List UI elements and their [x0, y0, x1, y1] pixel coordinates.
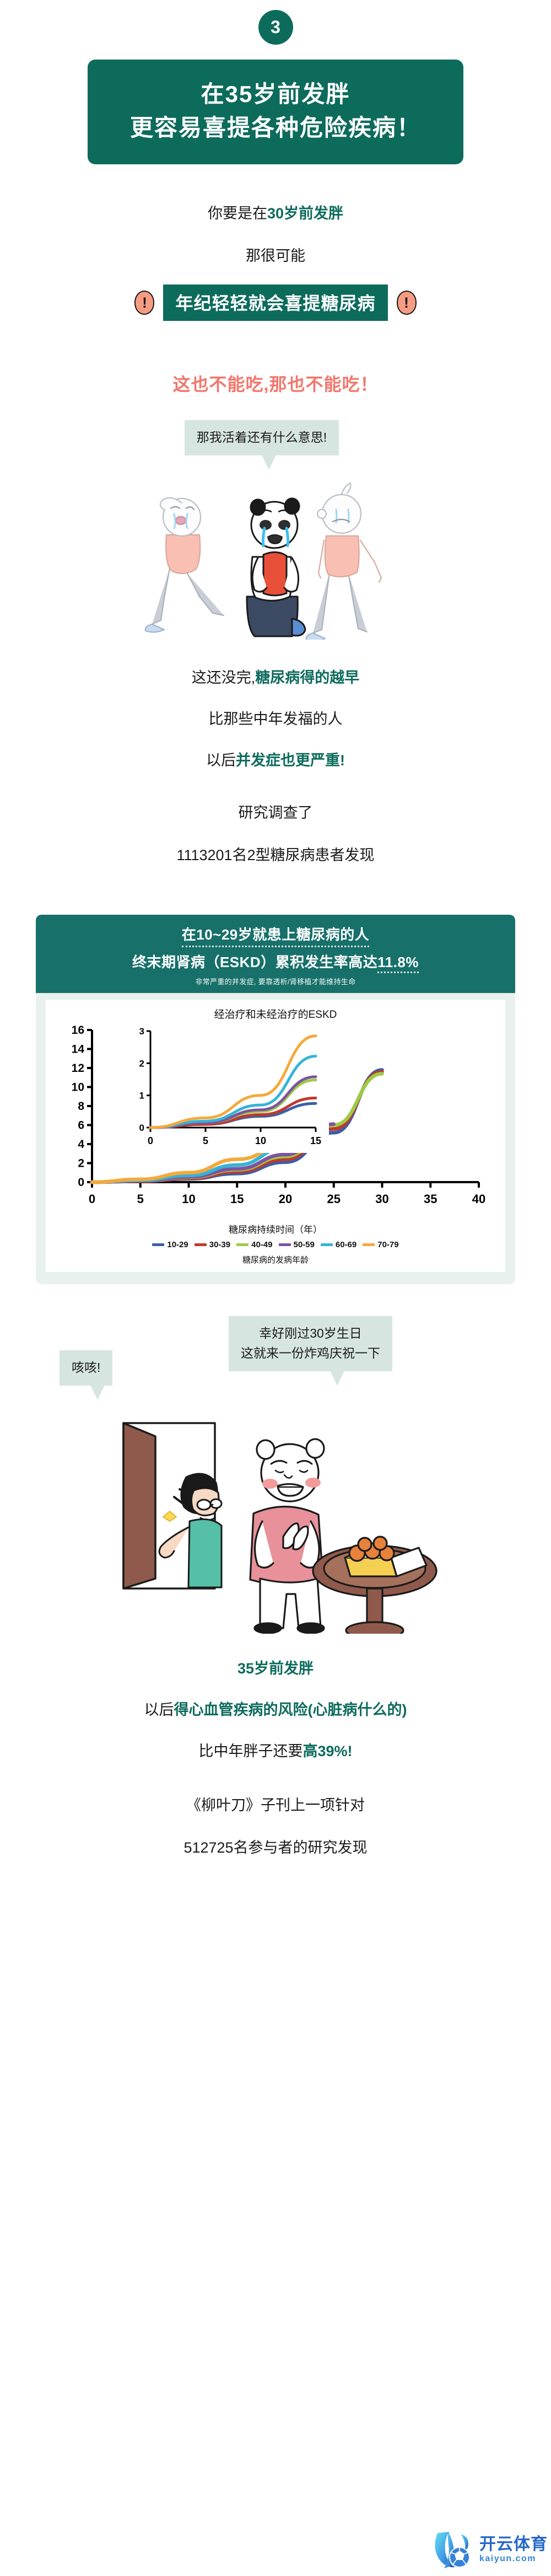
speech-bubble-1-tail: [262, 455, 276, 470]
svg-text:1: 1: [139, 1091, 144, 1101]
svg-text:8: 8: [78, 1100, 84, 1113]
chart-legend-item-10-29: 10-29: [152, 1240, 188, 1249]
door-scene-illustration: [0, 1413, 551, 1634]
chart-legend-item-40-49: 40-49: [236, 1240, 272, 1249]
chart-head-line-2-number: 11.8%: [377, 954, 419, 973]
legend-swatch-icon: [321, 1243, 333, 1246]
headline-container: 在35岁前发胖 更容易喜提各种危险疾病！: [0, 60, 551, 164]
middle-line-3: 以后并发症也更严重!: [0, 751, 551, 770]
chart-head-line-2: 终末期肾病（ESKD）累积发生率高达11.8%: [42, 951, 509, 972]
chart-legend-item-30-39: 30-39: [195, 1240, 230, 1249]
figure-man-panda: [250, 1439, 324, 1633]
svg-text:15: 15: [230, 1192, 244, 1206]
speech-bubble-3-text: 咳咳!: [72, 1360, 100, 1375]
chart-plot-area: 经治疗和未经治疗的ESKD 02468101214160510152025303…: [46, 1000, 505, 1238]
kaiyun-logo-icon: [430, 2527, 475, 2572]
svg-text:4: 4: [78, 1138, 84, 1151]
legend-label: 40-49: [251, 1240, 272, 1249]
chart-legend-item-70-79: 70-79: [363, 1240, 398, 1249]
conclusion-line-4: 《柳叶刀》子刊上一项针对: [0, 1796, 551, 1815]
chart-card-header: 在10~29岁就患上糖尿病的人 终末期肾病（ESKD）累积发生率高达11.8% …: [36, 915, 515, 993]
middle-line-5: 1113201名2型糖尿病患者发现: [0, 846, 551, 865]
intro-line-2: 那很可能: [0, 246, 551, 266]
chart-x-axis-label: 糖尿病持续时间（年）: [49, 1222, 502, 1236]
conclusion-line-5: 512725名参与者的研究发现: [0, 1838, 551, 1858]
crying-people-illustration: [0, 474, 551, 640]
svg-text:20: 20: [279, 1192, 292, 1206]
chart-title: 经治疗和未经治疗的ESKD: [49, 1006, 502, 1021]
intro-line-1-accent: 30岁前发胖: [267, 205, 343, 222]
conclusion-line-2-plain: 以后: [144, 1702, 174, 1718]
step-number-badge: 3: [258, 10, 293, 45]
legend-label: 60-69: [336, 1240, 356, 1249]
legend-label: 30-39: [209, 1240, 230, 1249]
speech-bubble-2: 幸好刚过30岁生日 这就来一份炸鸡庆祝一下: [229, 1316, 392, 1371]
svg-text:2: 2: [78, 1157, 84, 1170]
chart-legend-item-60-69: 60-69: [321, 1240, 356, 1249]
svg-text:10: 10: [255, 1135, 266, 1146]
chart-inset: 0123051015: [125, 1024, 329, 1153]
bubble-1-container: 那我活着还有什么意思!: [0, 420, 551, 455]
conclusion-line-3-plain: 比中年胖子还要: [198, 1743, 302, 1759]
warning-banner-row: ! 年纪轻轻就会喜提糖尿病 !: [0, 285, 551, 321]
legend-swatch-icon: [195, 1243, 207, 1246]
figure-right: [306, 483, 381, 640]
svg-text:10: 10: [72, 1081, 84, 1094]
svg-text:16: 16: [72, 1024, 84, 1037]
conclusion-line-1: 35岁前发胖: [0, 1659, 551, 1678]
middle-line-3-accent: 并发症也更严重!: [236, 752, 345, 769]
chart-legend-row: 10-2930-3940-4950-5960-6970-79: [49, 1240, 502, 1249]
legend-label: 70-79: [377, 1240, 398, 1249]
speech-bubble-2-line-2: 这就来一份炸鸡庆祝一下: [241, 1344, 380, 1364]
speech-bubble-3: 咳咳!: [60, 1350, 112, 1386]
conclusion-line-2: 以后得心血管疾病的风险(心脏病什么的): [0, 1700, 551, 1720]
svg-text:10: 10: [182, 1192, 195, 1206]
crying-people-illustration-container: [0, 474, 551, 640]
headline-line-1: 在35岁前发胖: [201, 78, 350, 111]
svg-text:3: 3: [139, 1026, 144, 1037]
chart-legend-item-50-59: 50-59: [279, 1240, 315, 1249]
speech-bubble-2-tail: [330, 1371, 344, 1386]
svg-text:6: 6: [78, 1119, 84, 1132]
step-badge-container: 3: [0, 0, 551, 45]
chart-head-line-2-pre: 终末期肾病（ESKD）累积发生率高达: [132, 954, 377, 970]
middle-line-2: 比那些中年发福的人: [0, 710, 551, 729]
svg-text:0: 0: [78, 1176, 84, 1189]
intro-line-1-plain: 你要是在: [208, 205, 267, 222]
bubbles-row-container: 幸好刚过30岁生日 这就来一份炸鸡庆祝一下 咳咳!: [0, 1316, 551, 1399]
chart-card-container: 在10~29岁就患上糖尿病的人 终末期肾病（ESKD）累积发生率高达11.8% …: [0, 915, 551, 1284]
svg-text:12: 12: [72, 1062, 84, 1075]
middle-line-1-accent: 糖尿病得的越早: [255, 669, 359, 686]
speech-bubble-1-text: 那我活着还有什么意思!: [197, 430, 327, 444]
conclusion-line-2-accent: 得心血管疾病的风险(心脏病什么的): [174, 1702, 407, 1718]
watermark-en-text: kaiyun.com: [479, 2554, 548, 2563]
conclusion-line-3-accent: 高39%!: [302, 1743, 352, 1759]
middle-line-1-plain: 这还没完,: [192, 669, 256, 686]
svg-text:35: 35: [424, 1192, 437, 1206]
legend-label: 10-29: [167, 1240, 188, 1249]
middle-line-3-plain: 以后: [206, 752, 236, 769]
legend-swatch-icon: [279, 1243, 291, 1246]
chart-svg: 024681012141605101520253035400123051015: [58, 1022, 493, 1221]
table-with-food: [313, 1537, 436, 1634]
svg-text:40: 40: [472, 1192, 485, 1206]
watermark-cn-text: 开云体育: [479, 2536, 548, 2553]
chart-card: 在10~29岁就患上糖尿病的人 终末期肾病（ESKD）累积发生率高达11.8% …: [36, 915, 515, 1284]
svg-text:15: 15: [310, 1135, 321, 1146]
chart-head-line-1: 在10~29岁就患上糖尿病的人: [182, 924, 370, 947]
svg-text:5: 5: [137, 1192, 144, 1206]
conclusion-line-3: 比中年胖子还要高39%!: [0, 1742, 551, 1761]
exclamation-left-icon: !: [134, 291, 154, 315]
speech-bubble-1: 那我活着还有什么意思!: [185, 420, 339, 455]
svg-text:0: 0: [139, 1123, 144, 1133]
svg-text:0: 0: [148, 1135, 153, 1146]
chart-legend-box: 10-2930-3940-4950-5960-6970-79 糖尿病的发病年龄: [46, 1238, 505, 1272]
headline-line-2: 更容易喜提各种危险疾病！: [130, 111, 421, 145]
svg-text:30: 30: [375, 1192, 388, 1206]
watermark: 开云体育 kaiyun.com: [430, 2527, 548, 2572]
warning-banner-text: 年纪轻轻就会喜提糖尿病: [163, 285, 387, 321]
chart-legend-caption: 糖尿病的发病年龄: [49, 1254, 502, 1265]
chart-head-line-3: 非常严重的并发症, 要靠透析/肾移植才能维持生命: [42, 976, 509, 986]
intro-line-1: 你要是在30岁前发胖: [0, 204, 551, 223]
speech-bubble-2-line-1: 幸好刚过30岁生日: [241, 1324, 380, 1344]
exclamation-right-icon: !: [397, 291, 417, 315]
figure-center-panda: [247, 498, 305, 636]
legend-swatch-icon: [152, 1243, 164, 1246]
legend-swatch-icon: [236, 1243, 249, 1246]
svg-text:14: 14: [72, 1043, 85, 1056]
shout-text: 这也不能吃,那也不能吃！: [0, 371, 551, 396]
svg-text:25: 25: [327, 1192, 341, 1206]
legend-label: 50-59: [294, 1240, 315, 1249]
middle-line-1: 这还没完,糖尿病得的越早: [0, 668, 551, 688]
speech-bubble-3-tail: [90, 1385, 105, 1400]
headline-panel: 在35岁前发胖 更容易喜提各种危险疾病！: [88, 60, 463, 164]
svg-text:5: 5: [203, 1135, 208, 1146]
figure-left: [145, 498, 224, 632]
middle-line-4: 研究调查了: [0, 803, 551, 823]
svg-text:2: 2: [139, 1059, 144, 1069]
legend-swatch-icon: [363, 1243, 375, 1246]
door-scene-illustration-container: [0, 1413, 551, 1634]
svg-text:0: 0: [89, 1192, 95, 1206]
